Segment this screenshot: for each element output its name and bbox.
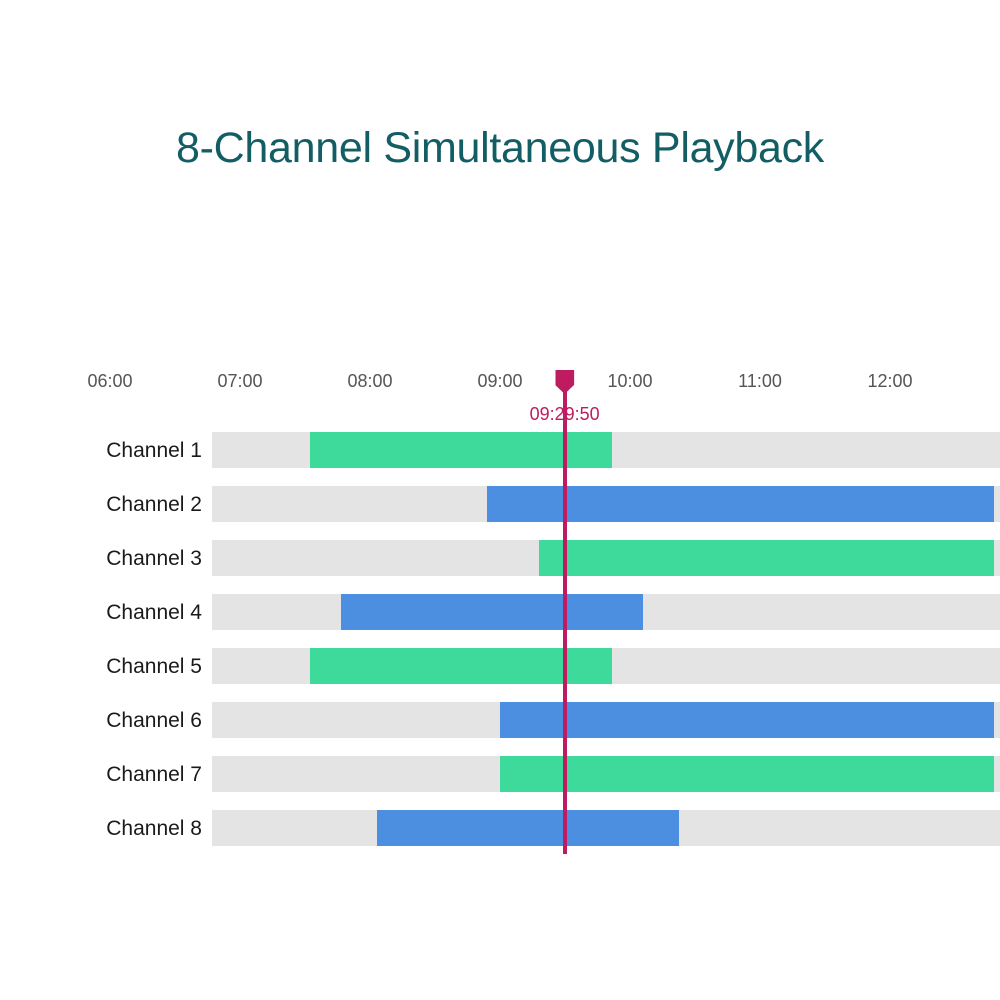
channel-track-2[interactable] xyxy=(212,486,1000,522)
axis-tick-0600: 06:00 xyxy=(87,371,132,392)
channel-label-5: Channel 5 xyxy=(106,655,202,679)
channel-label-8: Channel 8 xyxy=(106,817,202,841)
playback-timeline: 06:0007:0008:0009:0010:0011:0012:00 Chan… xyxy=(0,0,1000,1000)
playhead-pentagon-marker[interactable] xyxy=(555,370,574,394)
axis-tick-0900: 09:00 xyxy=(477,371,522,392)
channel-label-3: Channel 3 xyxy=(106,547,202,571)
channel-track-6[interactable] xyxy=(212,702,1000,738)
channel-track-4[interactable] xyxy=(212,594,1000,630)
clip-bar-channel-6[interactable] xyxy=(500,702,994,738)
axis-tick-1200: 12:00 xyxy=(867,371,912,392)
channel-label-2: Channel 2 xyxy=(106,493,202,517)
channel-track-7[interactable] xyxy=(212,756,1000,792)
channel-label-4: Channel 4 xyxy=(106,601,202,625)
channel-track-5[interactable] xyxy=(212,648,1000,684)
playhead-line[interactable] xyxy=(563,380,567,854)
channel-label-1: Channel 1 xyxy=(106,439,202,463)
channel-label-7: Channel 7 xyxy=(106,763,202,787)
clip-bar-channel-8[interactable] xyxy=(377,810,680,846)
clip-bar-channel-7[interactable] xyxy=(500,756,994,792)
clip-bar-channel-4[interactable] xyxy=(341,594,643,630)
channel-track-8[interactable] xyxy=(212,810,1000,846)
channel-track-1[interactable] xyxy=(212,432,1000,468)
channel-label-6: Channel 6 xyxy=(106,709,202,733)
axis-tick-0800: 08:00 xyxy=(347,371,392,392)
axis-tick-1100: 11:00 xyxy=(738,371,782,392)
channel-track-3[interactable] xyxy=(212,540,1000,576)
axis-tick-0700: 07:00 xyxy=(217,371,262,392)
axis-tick-1000: 10:00 xyxy=(607,371,652,392)
clip-bar-channel-3[interactable] xyxy=(539,540,994,576)
playhead-time-label: 09:29:50 xyxy=(530,404,600,425)
